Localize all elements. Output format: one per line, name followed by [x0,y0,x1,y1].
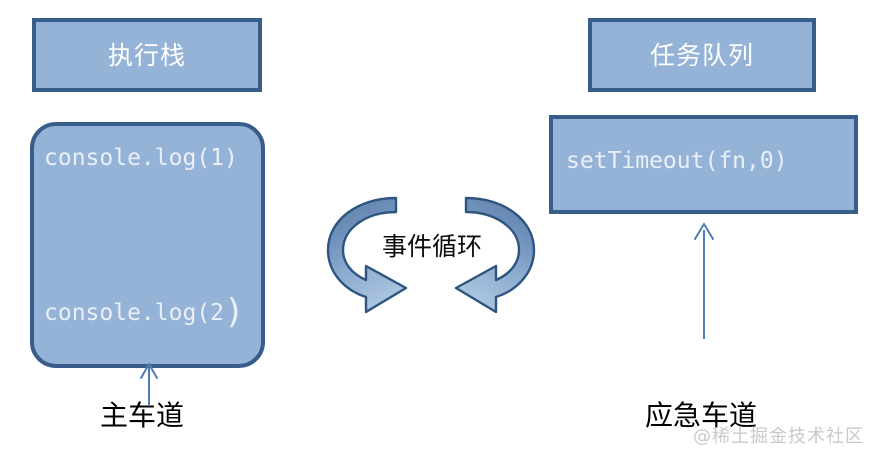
task-queue-item-settimeout: setTimeout(fn,0) [566,148,788,174]
call-stack-header-box: 执行栈 [32,18,262,92]
task-queue-callout-arrow-icon [687,220,723,340]
call-stack-header-label: 执行栈 [108,43,186,68]
call-stack-callout-label: 主车道 [100,402,184,430]
event-loop-label: 事件循环 [366,234,498,259]
task-queue-header-box: 任务队列 [588,18,816,92]
diagram-canvas: 执行栈 console.log(1) console.log(2) 主车道 任务… [0,0,872,454]
stack-frame-console-log-2: console.log(2) [44,300,245,326]
stack-frame-console-log-2-head: console.log(2 [44,300,224,326]
task-queue-header-label: 任务队列 [650,43,754,68]
watermark: @稀土掘金技术社区 [693,422,864,448]
stack-frame-console-log-2-tail: ) [224,292,244,332]
stack-frame-console-log-1: console.log(1) [44,145,238,171]
